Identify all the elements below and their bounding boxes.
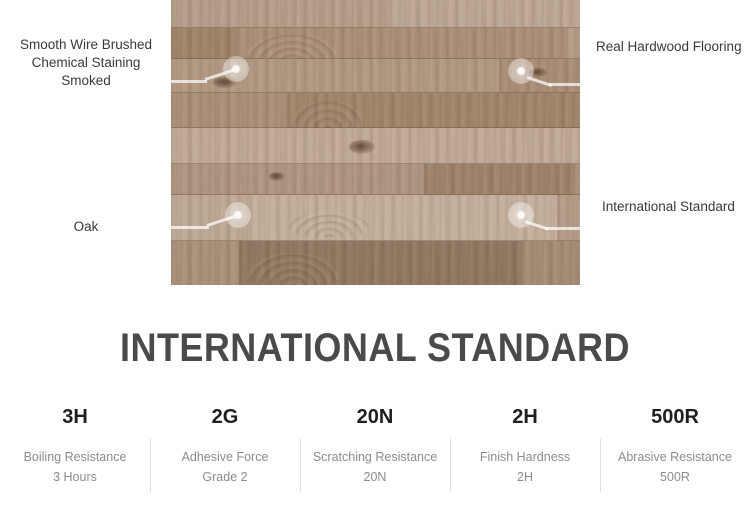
plank (171, 59, 501, 93)
spec-item-finish-hardness: 2H Finish Hardness 2H (450, 404, 600, 487)
page-title: INTERNATIONAL STANDARD (38, 326, 713, 371)
spec-item-boiling-resistance: 3H Boiling Resistance 3 Hours (0, 404, 150, 487)
plank (171, 0, 391, 28)
wood-grain (287, 93, 580, 127)
spec-value: 20N (306, 404, 444, 430)
wood-grain (249, 195, 559, 240)
wood-grain (237, 28, 567, 58)
wood-knot (529, 68, 547, 77)
plank (424, 164, 574, 195)
flooring-photo (171, 0, 580, 285)
wood-grain (239, 241, 524, 285)
spec-description: Boiling Resistance 3 Hours (6, 447, 144, 487)
plank (171, 93, 289, 128)
wood-grain (424, 164, 574, 194)
wood-grain (565, 28, 580, 58)
wood-grain (171, 0, 391, 27)
plank (171, 241, 241, 285)
wood-grain (522, 241, 580, 285)
plank (237, 28, 567, 59)
plank (565, 28, 580, 59)
spec-item-adhesive-force: 2G Adhesive Force Grade 2 (150, 404, 300, 487)
label-finish-treatments: Smooth Wire Brushed Chemical Staining Sm… (8, 36, 164, 90)
spec-item-scratching-resistance: 20N Scratching Resistance 20N (300, 404, 450, 487)
spec-description: Finish Hardness 2H (456, 447, 594, 487)
wood-grain-figure (247, 253, 339, 285)
wood-grain (557, 195, 580, 240)
label-species: Oak (8, 218, 164, 236)
wood-grain (171, 164, 426, 194)
wood-grain (171, 128, 580, 163)
plank (171, 195, 251, 241)
spec-description: Scratching Resistance 20N (306, 447, 444, 487)
specification-row: 3H Boiling Resistance 3 Hours 2G Adhesiv… (0, 404, 750, 487)
wood-grain (171, 195, 251, 240)
wood-grain (171, 241, 241, 285)
plank (171, 28, 239, 59)
plank (249, 195, 559, 241)
plank (522, 241, 580, 285)
wood-knot (349, 140, 375, 154)
wood-grain-figure (293, 101, 363, 129)
plank (499, 59, 580, 93)
wood-grain (171, 59, 501, 92)
spec-description: Abrasive Resistance 500R (606, 447, 744, 487)
wood-grain (499, 59, 580, 92)
wood-grain (171, 28, 239, 58)
wood-grain (389, 0, 580, 27)
wood-knot (269, 172, 285, 181)
plank (572, 164, 580, 195)
label-standard: International Standard (602, 198, 750, 216)
spec-description: Adhesive Force Grade 2 (156, 447, 294, 487)
wood-grain (171, 93, 289, 127)
wood-grain (572, 164, 580, 194)
plank (287, 93, 580, 128)
wood-knot (213, 77, 237, 88)
plank (171, 164, 426, 195)
hero-section: Smooth Wire Brushed Chemical Staining Sm… (0, 0, 750, 290)
label-product-type: Real Hardwood Flooring (596, 38, 746, 56)
spec-value: 2G (156, 404, 294, 430)
spec-value: 2H (456, 404, 594, 430)
spec-value: 3H (6, 404, 144, 430)
plank (557, 195, 580, 241)
spec-value: 500R (606, 404, 744, 430)
wood-grain-figure (289, 211, 369, 237)
plank (171, 128, 580, 164)
spec-item-abrasive-resistance: 500R Abrasive Resistance 500R (600, 404, 750, 487)
plank (389, 0, 580, 28)
plank (239, 241, 524, 285)
